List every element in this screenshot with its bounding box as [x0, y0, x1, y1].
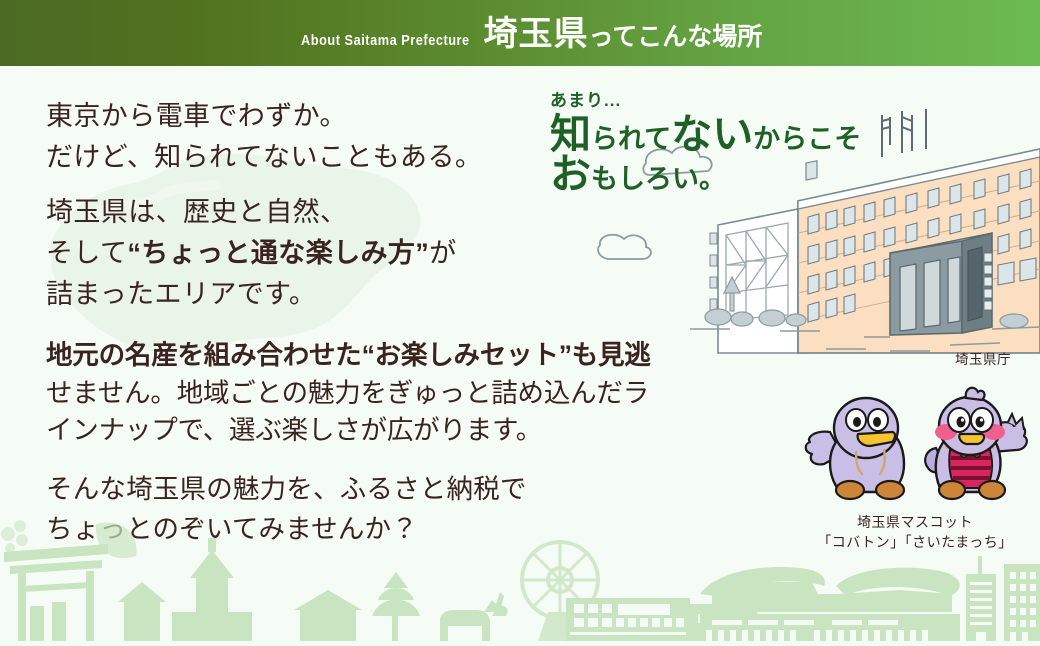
headline-line-2: おもしろい。 — [550, 154, 861, 196]
headline-seg-nai: ない — [671, 111, 753, 157]
building-caption: 埼玉県庁 — [955, 348, 1011, 368]
paragraph-3-line-2: せません。地域ごとの魅力をぎゅっと詰め込んだラ — [46, 375, 546, 413]
paragraph-4-line-1: そんな埼玉県の魅力を、ふるさと納税で — [46, 470, 546, 510]
paragraph-4: そんな埼玉県の魅力を、ふるさと納税で ちょっとのぞいてみませんか？ — [46, 470, 546, 550]
header-title-group: About Saitama Prefecture 埼玉県ってこんな場所 — [278, 17, 762, 51]
paragraph-2-line-2: そして“ちょっと通な楽しみ方”が — [46, 233, 546, 274]
headline-seg-karakoso: からこそ — [753, 124, 861, 154]
paragraph-1-line-1: 東京から電車でわずか。 — [46, 96, 546, 137]
page-header: About Saitama Prefecture 埼玉県ってこんな場所 — [0, 0, 1040, 66]
mascot-caption-line-2: 「コバトン」「さいたまっち」 — [800, 532, 1030, 552]
header-title-sub: ってこんな場所 — [588, 23, 762, 51]
page-root: About Saitama Prefecture 埼玉県ってこんな場所 — [0, 0, 1040, 646]
headline-line-1: 知られてないからこそ — [550, 114, 861, 156]
paragraph-4-line-2: ちょっとのぞいてみませんか？ — [46, 510, 546, 550]
paragraph-2-line-1: 埼玉県は、歴史と自然、 — [46, 192, 546, 233]
paragraph-2-quoted-phrase: “ちょっと通な楽しみ方” — [127, 238, 429, 268]
mascot-caption-line-1: 埼玉県マスコット — [800, 512, 1030, 532]
paragraph-3: 地元の名産を組み合わせた“お楽しみセット”も見逃 せません。地域ごとの魅力をぎゅ… — [46, 337, 546, 450]
header-english-label: About Saitama Prefecture — [301, 33, 470, 49]
paragraph-1-line-2: だけど、知られてないこともある。 — [46, 137, 546, 178]
headline-kicker: あまり... — [550, 92, 861, 109]
paragraph-2-line-2-pre: そして — [46, 238, 127, 268]
paragraph-2-line-2-post: が — [429, 238, 456, 268]
paragraph-3-line-1: 地元の名産を組み合わせた“お楽しみセット”も見逃 — [46, 337, 546, 375]
headline-block: あまり... 知られてないからこそ おもしろい。 — [550, 92, 861, 196]
paragraph-3-line-3: インナップで、選ぶ楽しさが広がります。 — [46, 412, 546, 450]
header-japanese-title: 埼玉県ってこんな場所 — [483, 17, 762, 51]
mascot-caption: 埼玉県マスコット 「コバトン」「さいたまっち」 — [800, 512, 1030, 553]
saitama-mascots-kobaton-saitamacchi-icon — [800, 380, 1030, 510]
headline-seg-moshiroi: もしろい。 — [591, 164, 726, 194]
headline-seg-rarete: られて — [591, 124, 671, 154]
header-title-main: 埼玉県 — [483, 15, 588, 53]
paragraph-2-line-3: 詰まったエリアです。 — [46, 274, 546, 315]
paragraph-2: 埼玉県は、歴史と自然、 そして“ちょっと通な楽しみ方”が 詰まったエリアです。 — [46, 192, 546, 315]
paragraph-1: 東京から電車でわずか。 だけど、知られてないこともある。 — [46, 96, 546, 178]
body-copy-column: 東京から電車でわずか。 だけど、知られてないこともある。 埼玉県は、歴史と自然、… — [46, 96, 546, 550]
headline-seg-o: お — [550, 151, 591, 197]
